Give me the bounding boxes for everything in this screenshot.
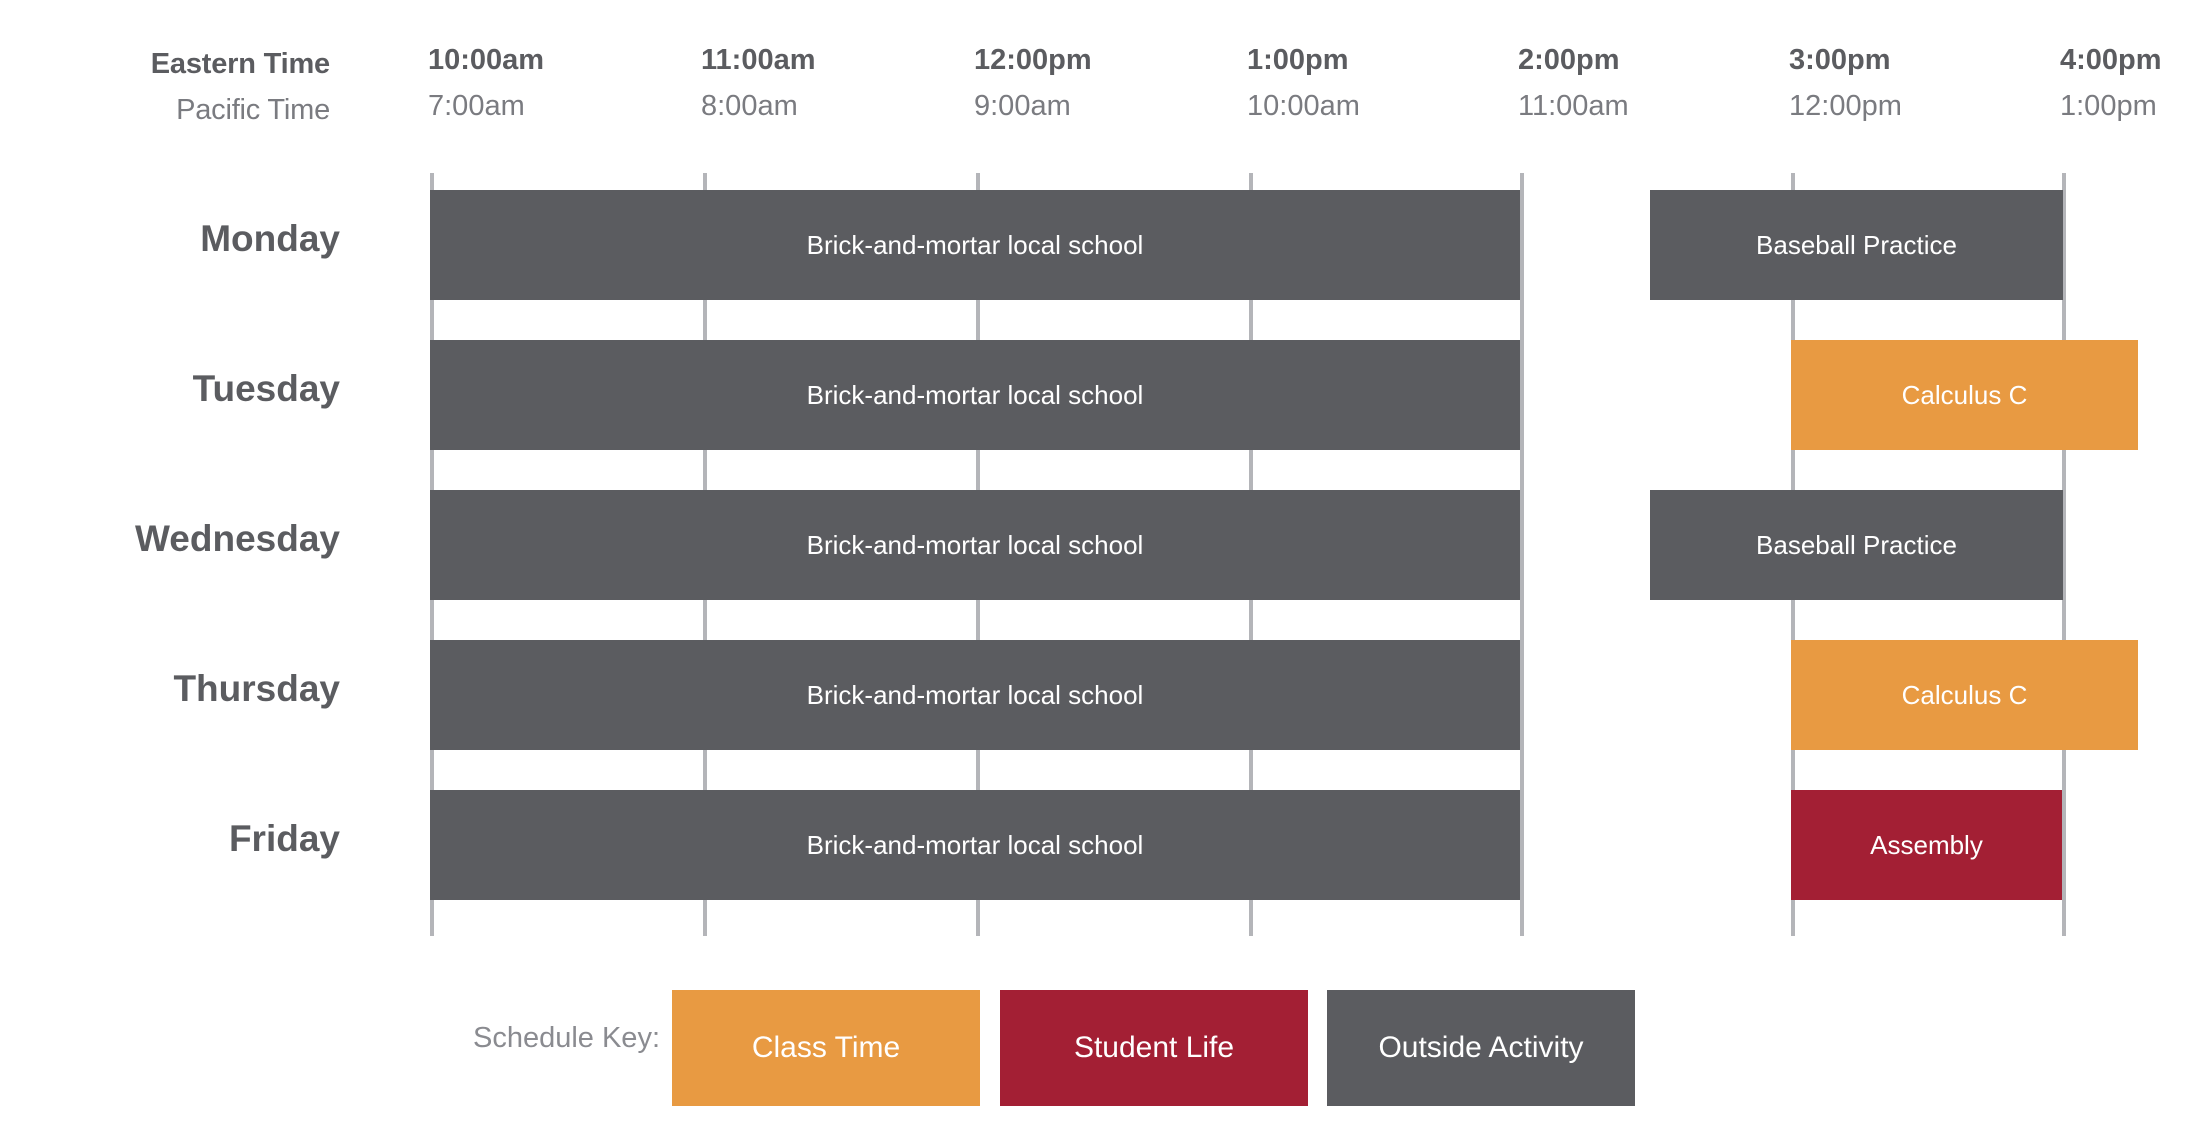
- schedule-bar[interactable]: Assembly: [1791, 790, 2062, 900]
- day-label-monday: Monday: [0, 218, 340, 260]
- schedule-bar[interactable]: Baseball Practice: [1650, 490, 2063, 600]
- schedule-bar[interactable]: Brick-and-mortar local school: [430, 790, 1520, 900]
- plot-area: MondayTuesdayWednesdayThursdayFriday Bri…: [0, 0, 2210, 1138]
- schedule-bar[interactable]: Calculus C: [1791, 340, 2138, 450]
- day-label-wednesday: Wednesday: [0, 518, 340, 560]
- legend-item-outside-activity[interactable]: Outside Activity: [1327, 990, 1635, 1106]
- legend-item-class-time[interactable]: Class Time: [672, 990, 980, 1106]
- day-label-tuesday: Tuesday: [0, 368, 340, 410]
- gridline-5: [1520, 173, 1524, 936]
- schedule-bar[interactable]: Calculus C: [1791, 640, 2138, 750]
- schedule-bar[interactable]: Brick-and-mortar local school: [430, 340, 1520, 450]
- schedule-chart: Eastern Time Pacific Time 10:00am7:00am1…: [0, 0, 2210, 1138]
- schedule-key-legend: Schedule Key: Class TimeStudent LifeOuts…: [0, 990, 2210, 1110]
- legend-title: Schedule Key:: [430, 1022, 660, 1055]
- day-label-friday: Friday: [0, 818, 340, 860]
- schedule-bar[interactable]: Brick-and-mortar local school: [430, 640, 1520, 750]
- schedule-bar[interactable]: Brick-and-mortar local school: [430, 490, 1520, 600]
- legend-item-student-life[interactable]: Student Life: [1000, 990, 1308, 1106]
- schedule-bar[interactable]: Brick-and-mortar local school: [430, 190, 1520, 300]
- day-label-thursday: Thursday: [0, 668, 340, 710]
- schedule-bar[interactable]: Baseball Practice: [1650, 190, 2063, 300]
